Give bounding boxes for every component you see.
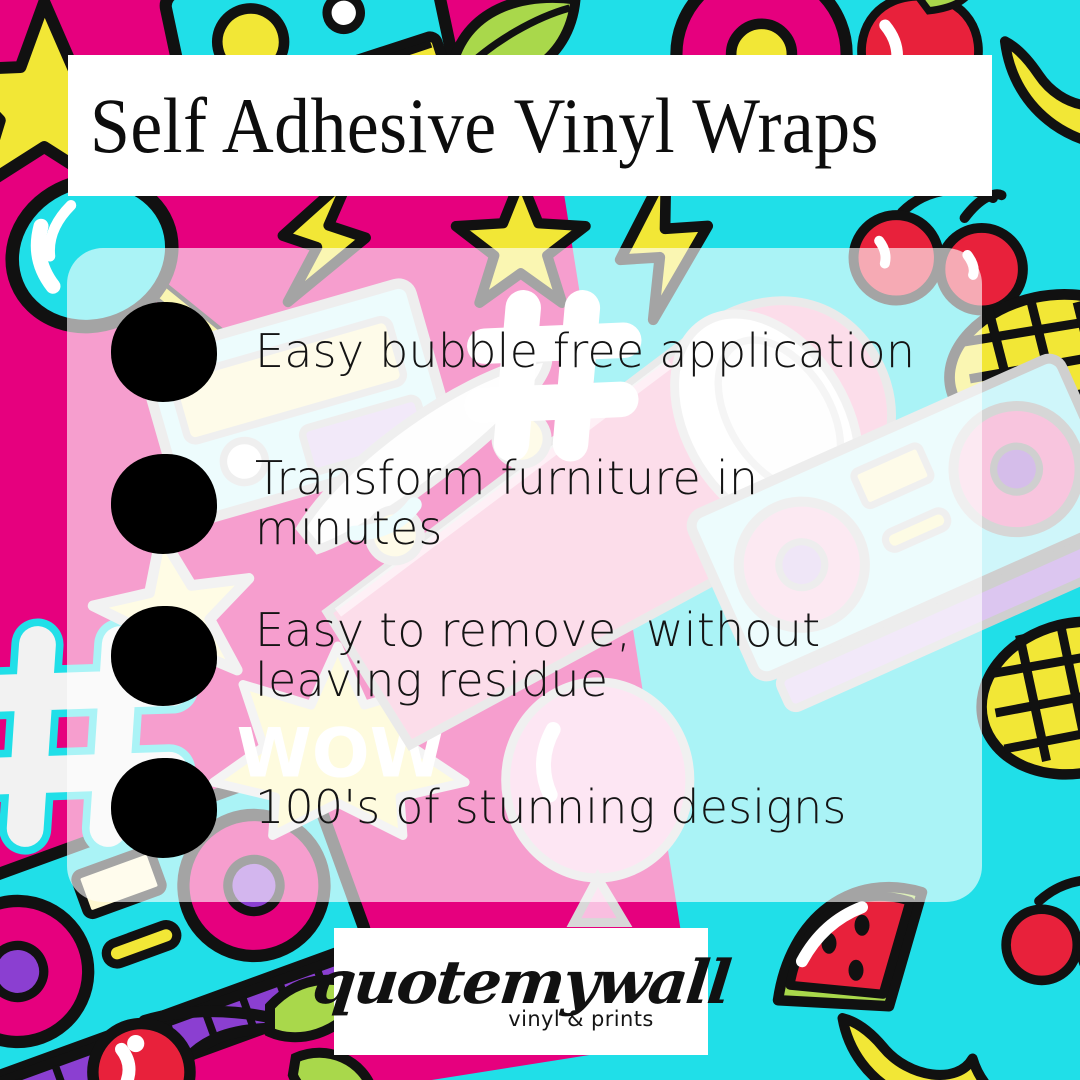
list-item: Transform furniture in minutes — [67, 428, 982, 580]
feature-label: Easy bubble free application — [255, 327, 915, 377]
poster-canvas: WOW — [0, 0, 1080, 1080]
brand-logo-card: quotemywall vinyl & prints — [334, 928, 708, 1055]
list-item: 100's of stunning designs — [67, 732, 982, 884]
feature-label: Easy to remove, without leaving residue — [255, 606, 955, 705]
feature-list: Easy bubble free application Transform f… — [67, 248, 982, 902]
features-panel: Easy bubble free application Transform f… — [67, 248, 982, 902]
page-title: Self Adhesive Vinyl Wraps — [90, 87, 879, 165]
list-item: Easy to remove, without leaving residue — [67, 580, 982, 732]
banana-icon — [830, 995, 1040, 1080]
feature-label: 100's of stunning designs — [255, 783, 847, 833]
list-item: Easy bubble free application — [67, 276, 982, 428]
bullet-dot-icon — [111, 302, 217, 402]
banana-icon — [985, 10, 1080, 180]
title-card: Self Adhesive Vinyl Wraps — [68, 55, 992, 196]
feature-label: Transform furniture in minutes — [255, 454, 955, 553]
bullet-dot-icon — [111, 606, 217, 706]
bullet-dot-icon — [111, 758, 217, 858]
cherry-icon — [1010, 860, 1080, 990]
bullet-dot-icon — [111, 454, 217, 554]
brand-wordmark: quotemywall — [310, 956, 732, 1011]
